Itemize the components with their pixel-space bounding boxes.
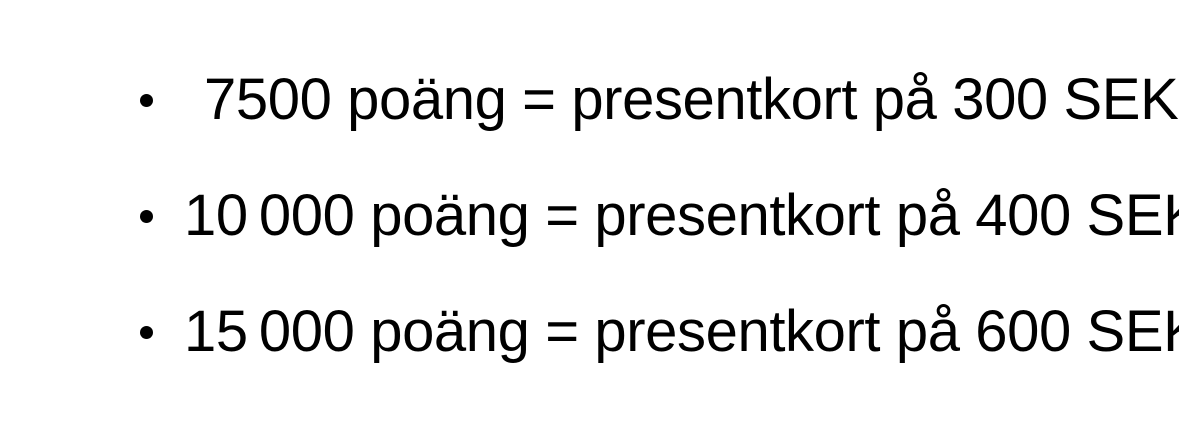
bullet-icon [140,94,153,107]
reward-tier-text: 10 000 poäng = presentkort på 400 SEK [184,187,1179,245]
reward-tier-text: 7500 poäng = presentkort på 300 SEK [204,71,1178,129]
page-canvas: 7500 poäng = presentkort på 300 SEK 10 0… [0,0,1179,423]
reward-tier-text: 15 000 poäng = presentkort på 600 SEK [184,303,1179,361]
bullet-icon [140,326,153,339]
bullet-icon [140,210,153,223]
